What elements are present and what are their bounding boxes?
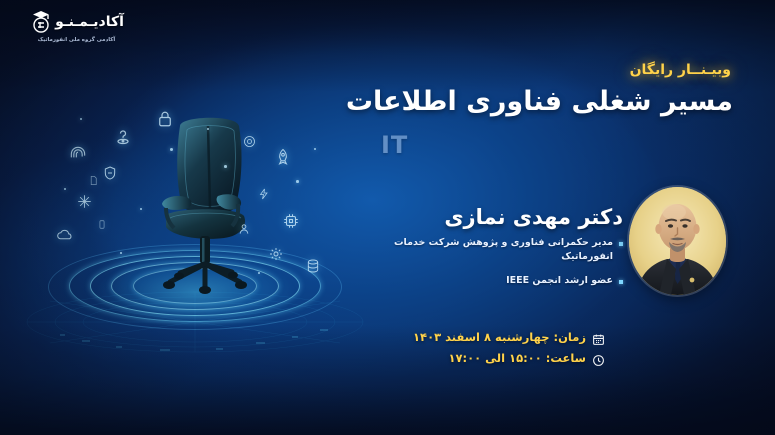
spark-particle — [140, 208, 142, 210]
gear-icon — [268, 246, 284, 262]
schedule-date-text: زمان: چهارشنبه ۸ اسفند ۱۴۰۳ — [413, 330, 586, 344]
bullet-dot-icon — [619, 280, 623, 284]
spark-particle — [80, 118, 82, 120]
eyebrow-free-webinar: وبیـنــار رایگان — [630, 62, 731, 78]
bolt-icon — [258, 186, 270, 202]
list-item: مدیر حکمرانی فناوری و پژوهش شرکت خدمات ا… — [373, 236, 623, 265]
speaker-name: دکتر مهدی نمازی — [444, 205, 623, 229]
spark-particle — [170, 148, 173, 151]
shield-icon — [102, 164, 118, 182]
clock-icon — [592, 352, 605, 365]
graduation-cap-logo — [29, 9, 53, 35]
list-item: عضو ارشد انجمن IEEE — [373, 274, 623, 288]
logo-lockup: آکادیـمـنـو — [29, 8, 124, 36]
brand-logo[interactable]: آکادیـمـنـو آکادمی گروه ملی انفورماتیک — [14, 8, 139, 50]
spark-particle — [64, 188, 66, 190]
chip-icon — [282, 212, 300, 230]
credential-text: مدیر حکمرانی فناوری و پژوهش شرکت خدمات ا… — [373, 236, 613, 265]
mobile-icon — [97, 218, 107, 231]
spark-particle — [296, 180, 299, 183]
spark-particle — [258, 272, 260, 274]
speaker-credentials: مدیر حکمرانی فناوری و پژوهش شرکت خدمات ا… — [373, 236, 623, 297]
logo-wordmark: آکادیـمـنـو — [55, 14, 124, 30]
speaker-portrait — [629, 187, 726, 295]
credential-text: عضو ارشد انجمن IEEE — [506, 274, 613, 288]
logo-tagline: آکادمی گروه ملی انفورماتیک — [38, 37, 116, 43]
page-title: مسیر شغلی فناوری اطلاعات — [346, 86, 733, 117]
avatar — [629, 187, 726, 295]
schedule-info: زمان: چهارشنبه ۸ اسفند ۱۴۰۳ ساعت: ۱۵:۰۰ … — [413, 330, 605, 372]
cloud-icon — [53, 226, 77, 244]
schedule-time-text: ساعت: ۱۵:۰۰ الی ۱۷:۰۰ — [448, 351, 586, 365]
spark-particle — [224, 165, 227, 168]
rocket-icon — [274, 146, 292, 168]
fingerprint-icon — [68, 143, 88, 165]
target-icon — [242, 134, 257, 149]
lock-icon — [156, 110, 174, 128]
webinar-poster: آکادیـمـنـو آکادمی گروه ملی انفورماتیک و… — [0, 0, 775, 435]
schedule-date-row: زمان: چهارشنبه ۸ اسفند ۱۴۰۳ — [413, 330, 605, 344]
question-mark-icon — [113, 126, 133, 146]
document-icon — [88, 174, 99, 187]
spark-particle — [314, 148, 316, 150]
schedule-time-row: ساعت: ۱۵:۰۰ الی ۱۷:۰۰ — [413, 351, 605, 365]
office-chair-hologram — [20, 88, 370, 348]
database-icon — [305, 258, 321, 274]
snowflake-icon — [77, 194, 92, 209]
bullet-dot-icon — [619, 242, 623, 246]
spark-particle — [207, 128, 209, 130]
calendar-icon — [592, 331, 605, 344]
user-icon — [237, 222, 251, 236]
spark-particle — [120, 252, 122, 254]
subtitle-it: IT — [381, 131, 408, 159]
